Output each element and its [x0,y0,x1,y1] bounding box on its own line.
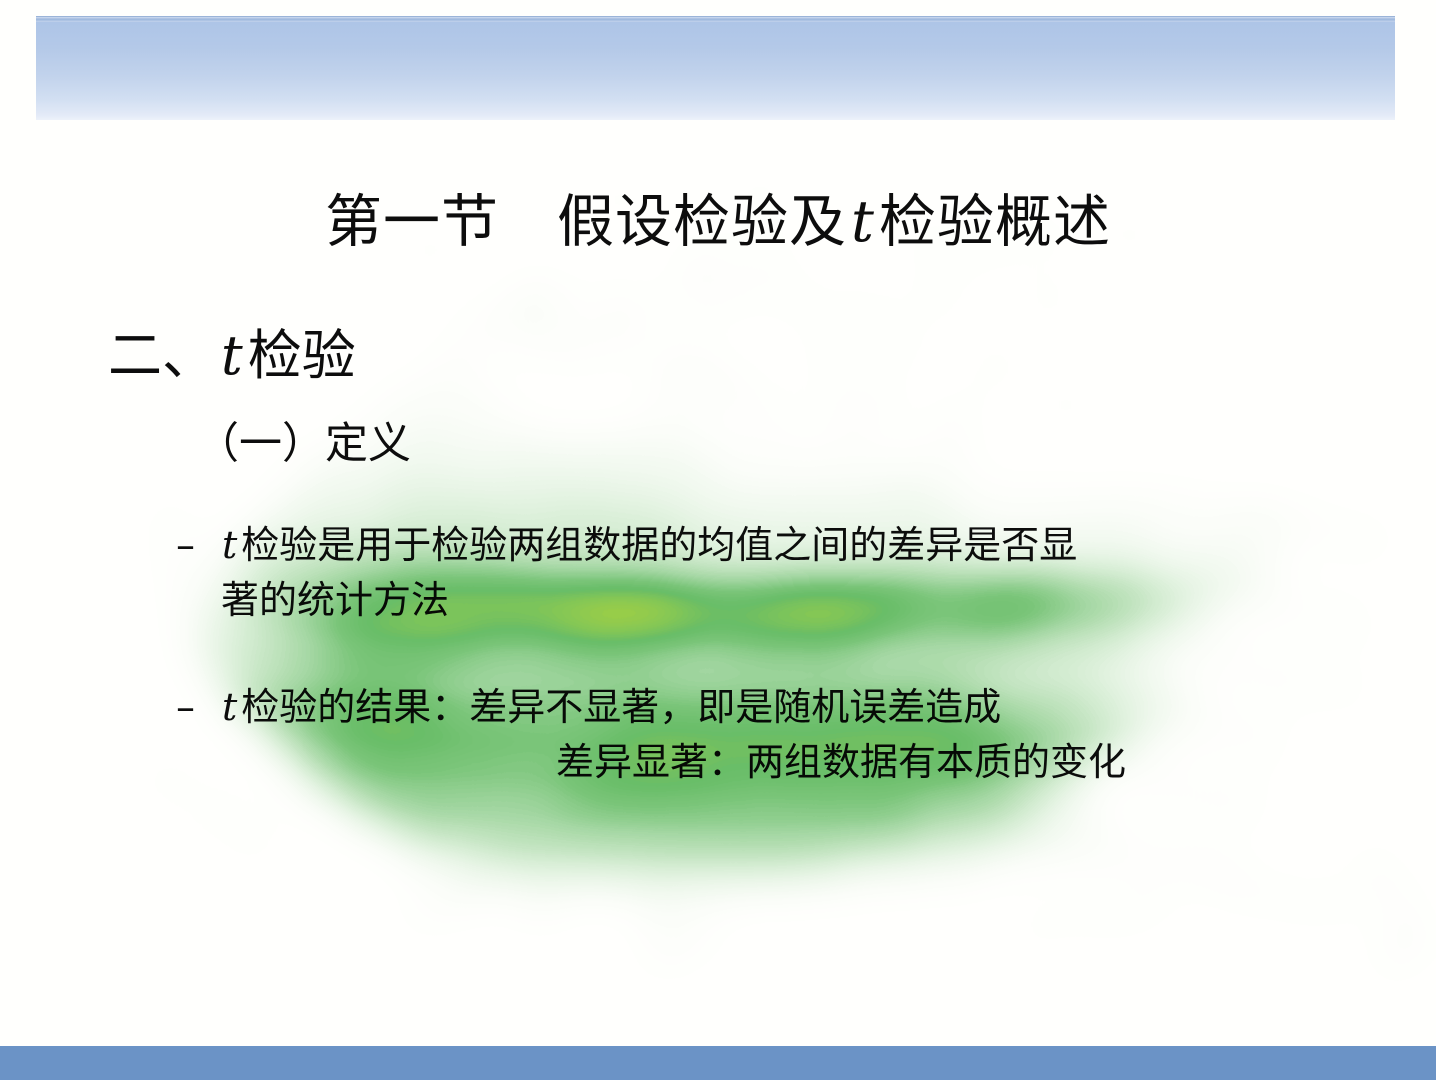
bullet-line-1: 检验的结果：差异不显著，即是随机误差造成 [241,685,1001,729]
slide-title-part1: 假设检验及 [557,189,847,255]
bullet-line-2: 著的统计方法 [221,573,1366,628]
slide-title-latin-t: t [847,189,879,255]
bullet-item: – t检验的结果：差异不显著，即是随机误差造成 差异显著：两组数据有本质的变化 [176,680,1366,790]
slide-title-part2: 检验概述 [879,189,1111,255]
level1-latin-t: t [216,324,248,387]
level1-suffix: 检验 [248,324,356,387]
slide-content: 第一节 假设检验及t检验概述 二、t检验 （一）定义 – t检验是用于检验两组数… [0,0,1436,1080]
level1-prefix: 二、 [108,324,216,387]
bullet-line: t检验的结果：差异不显著，即是随机误差造成 [221,680,1366,735]
powerpoint-slide: 第一节 假设检验及t检验概述 二、t检验 （一）定义 – t检验是用于检验两组数… [0,0,1436,1080]
bullet-dash-icon: – [176,680,195,735]
level2-heading: （一）定义 [196,409,411,471]
slide-title-prefix: 第一节 [325,189,499,255]
slide-title-gap [499,189,557,255]
bullet-dash-icon: – [176,518,195,573]
bullet-line-2: 差异显著：两组数据有本质的变化 [556,735,1366,790]
bullet-latin-t: t [221,685,241,729]
slide-title: 第一节 假设检验及t检验概述 [0,193,1436,253]
bullet-item: – t检验是用于检验两组数据的均值之间的差异是否显 著的统计方法 [176,518,1366,628]
level1-heading: 二、t检验 [108,311,356,390]
bullet-line-1: 检验是用于检验两组数据的均值之间的差异是否显 [241,523,1077,567]
bullet-line: t检验是用于检验两组数据的均值之间的差异是否显 [221,518,1366,573]
bullet-latin-t: t [221,523,241,567]
